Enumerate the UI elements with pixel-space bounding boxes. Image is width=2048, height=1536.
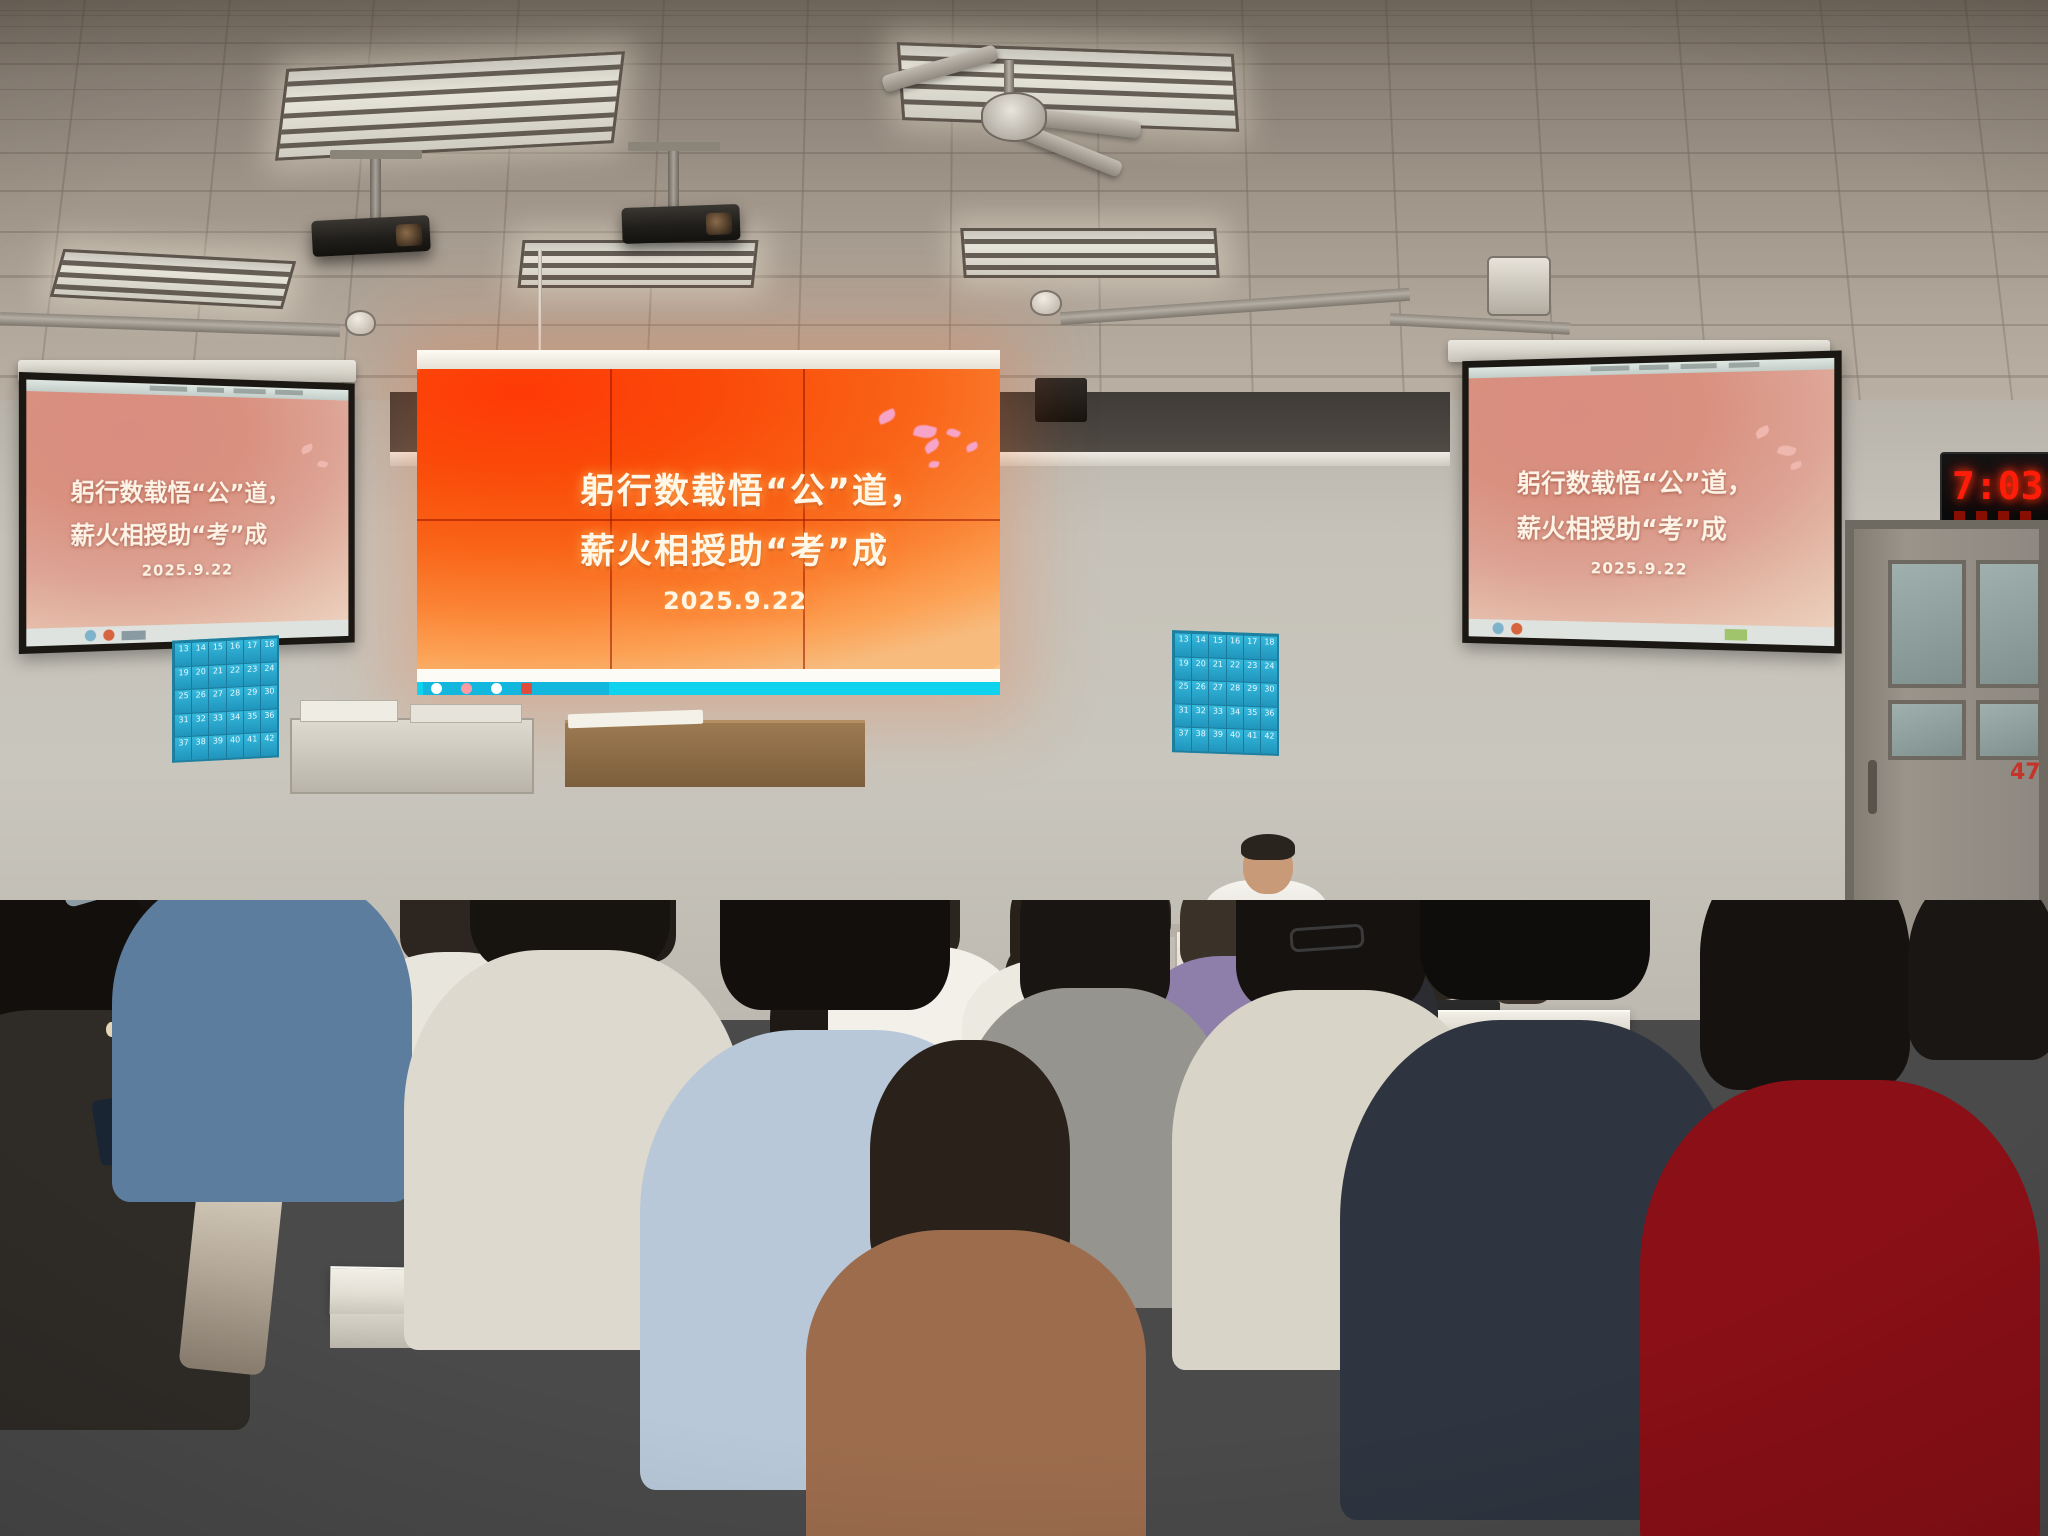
right-screen-status-icon[interactable]	[1725, 629, 1747, 641]
toolbar-item	[234, 388, 266, 394]
left-locker-cabinet[interactable]: 1314151617181920212223242526272829303132…	[172, 635, 279, 763]
toolbar-item	[275, 390, 303, 396]
led-date-label: 2025.9.22	[663, 587, 807, 615]
audience-person-shoulders	[806, 1230, 1146, 1536]
audience-person	[720, 900, 950, 1010]
left-screen-status-icon[interactable]	[122, 630, 146, 640]
room-number-sign: 47	[2010, 760, 2041, 785]
ceiling-tile-line	[0, 26, 2048, 27]
door-glass-panel	[1976, 700, 2042, 760]
right-screen-status-icon[interactable]	[1511, 623, 1522, 635]
wall-dome-sensor	[1487, 256, 1551, 316]
audience-person-shoulders	[1640, 1080, 2040, 1536]
speaker-hair	[1241, 834, 1295, 860]
ceiling-dome-camera	[1030, 290, 1062, 316]
left-screen-title-line-2: 薪火相授助“考”成	[70, 515, 267, 551]
right-screen-date-label: 2025.9.22	[1591, 558, 1688, 578]
toolbar-item	[1639, 364, 1669, 370]
locker-cell[interactable]: 30	[1260, 682, 1279, 708]
led-panel-seam	[417, 519, 1000, 521]
lecture-hall-photo: 躬行数载悟“公”道， 薪火相授助“考”成 2025.9.22 躬行数载悟“公”道…	[0, 0, 2048, 1536]
console-device	[410, 704, 522, 723]
projector-mount-pole	[370, 150, 381, 222]
eyeglasses	[1289, 923, 1364, 952]
decorative-bird-icon	[929, 460, 940, 468]
toolbar-item	[150, 386, 188, 392]
door-glass-panel	[1888, 560, 1966, 688]
fan-blade	[881, 44, 999, 93]
door-glass-panel	[1888, 700, 1966, 760]
led-wall-clock: 7:03:0	[1940, 452, 2048, 528]
console-device	[300, 700, 398, 722]
led-title-line-1: 躬行数载悟“公”道，	[580, 463, 926, 514]
locker-cell[interactable]: 42	[1260, 730, 1279, 756]
wall-speaker	[1035, 378, 1087, 422]
locker-cell[interactable]: 24	[1260, 659, 1279, 685]
ceiling-tile-line	[0, 42, 2048, 43]
taskbar-app-icon[interactable]	[461, 683, 472, 694]
audience-person	[1908, 900, 2048, 1060]
locker-cell[interactable]: 30	[260, 684, 279, 711]
toolbar-item	[1729, 362, 1760, 368]
av-control-console	[290, 718, 534, 794]
taskbar-tray-area[interactable]	[423, 682, 609, 695]
led-title-line-2: 薪火相授助“考”成	[580, 523, 889, 574]
toolbar-item	[1681, 363, 1717, 369]
taskbar-app-icon[interactable]	[521, 683, 532, 694]
audience-person	[1420, 900, 1650, 1000]
audience-person	[1700, 900, 1910, 1090]
locker-cell[interactable]: 24	[260, 661, 279, 688]
left-screen-date-label: 2025.9.22	[142, 561, 233, 580]
ceiling-projector	[311, 215, 431, 257]
ceiling-light-panel	[517, 240, 758, 288]
right-screen-status-icon[interactable]	[1493, 622, 1504, 634]
right-projection-screen[interactable]: 躬行数载悟“公”道， 薪火相授助“考”成 2025.9.22	[1462, 350, 1841, 653]
left-screen-image	[26, 379, 348, 646]
main-led-video-wall[interactable]: 躬行数载悟“公”道， 薪火相授助“考”成 2025.9.22	[417, 350, 1000, 695]
audience-person-shoulders	[112, 900, 412, 1202]
fan-motor-housing	[981, 92, 1047, 142]
audience-seating-area	[0, 900, 2048, 1536]
ceiling-fan	[885, 48, 1135, 198]
decorative-bird-icon	[877, 408, 898, 425]
front-wooden-desk	[565, 720, 865, 787]
projector-lens	[395, 223, 422, 246]
led-wall-desktop-strip	[417, 669, 1000, 695]
projector-mount-pole	[668, 142, 679, 210]
clock-time-display: 7:03:0	[1952, 464, 2048, 508]
door-glass-panel	[1976, 560, 2042, 688]
taskbar-app-icon[interactable]	[431, 683, 442, 694]
ceiling-tile-line	[0, 10, 2048, 11]
decorative-bird-icon	[965, 441, 979, 452]
right-locker-cabinet[interactable]: 1314151617181920212223242526272829303132…	[1172, 630, 1279, 756]
left-projection-screen[interactable]: 躬行数载悟“公”道， 薪火相授助“考”成 2025.9.22	[19, 372, 355, 654]
right-screen-title-line-2: 薪火相授助“考”成	[1517, 509, 1727, 547]
locker-cell[interactable]: 36	[260, 708, 279, 735]
decorative-bird-icon	[923, 438, 942, 455]
projector-lens	[706, 212, 733, 235]
toolbar-item	[1591, 365, 1630, 371]
led-wall-display-surface: 躬行数载悟“公”道， 薪火相授助“考”成 2025.9.22	[417, 369, 1000, 669]
led-wall-top-bezel	[417, 350, 1000, 369]
toolbar-item	[197, 387, 224, 393]
ceiling-light-panel	[960, 228, 1219, 278]
locker-cell[interactable]: 18	[260, 637, 279, 664]
ceiling-tile-line	[0, 15, 2048, 16]
decorative-bird-icon	[946, 427, 961, 440]
projector-mount-plate	[628, 142, 720, 151]
clock-secondary-readout	[1954, 511, 2040, 520]
door-handle[interactable]	[1868, 760, 1877, 814]
ceiling-projector	[621, 204, 740, 244]
locker-cell[interactable]: 42	[260, 732, 279, 759]
right-screen-image	[1469, 358, 1835, 646]
right-screen-title-line-1: 躬行数载悟“公”道，	[1517, 462, 1754, 500]
locker-cell[interactable]: 36	[1260, 706, 1279, 732]
taskbar-app-icon[interactable]	[491, 683, 502, 694]
backpack-strap	[178, 1178, 283, 1376]
ceiling-dome-camera	[345, 310, 376, 336]
ceiling-light-panel	[275, 51, 625, 160]
left-screen-title-line-1: 躬行数载悟“公”道，	[70, 472, 289, 508]
projector-mount-plate	[330, 150, 422, 159]
locker-cell[interactable]: 18	[1260, 635, 1279, 661]
